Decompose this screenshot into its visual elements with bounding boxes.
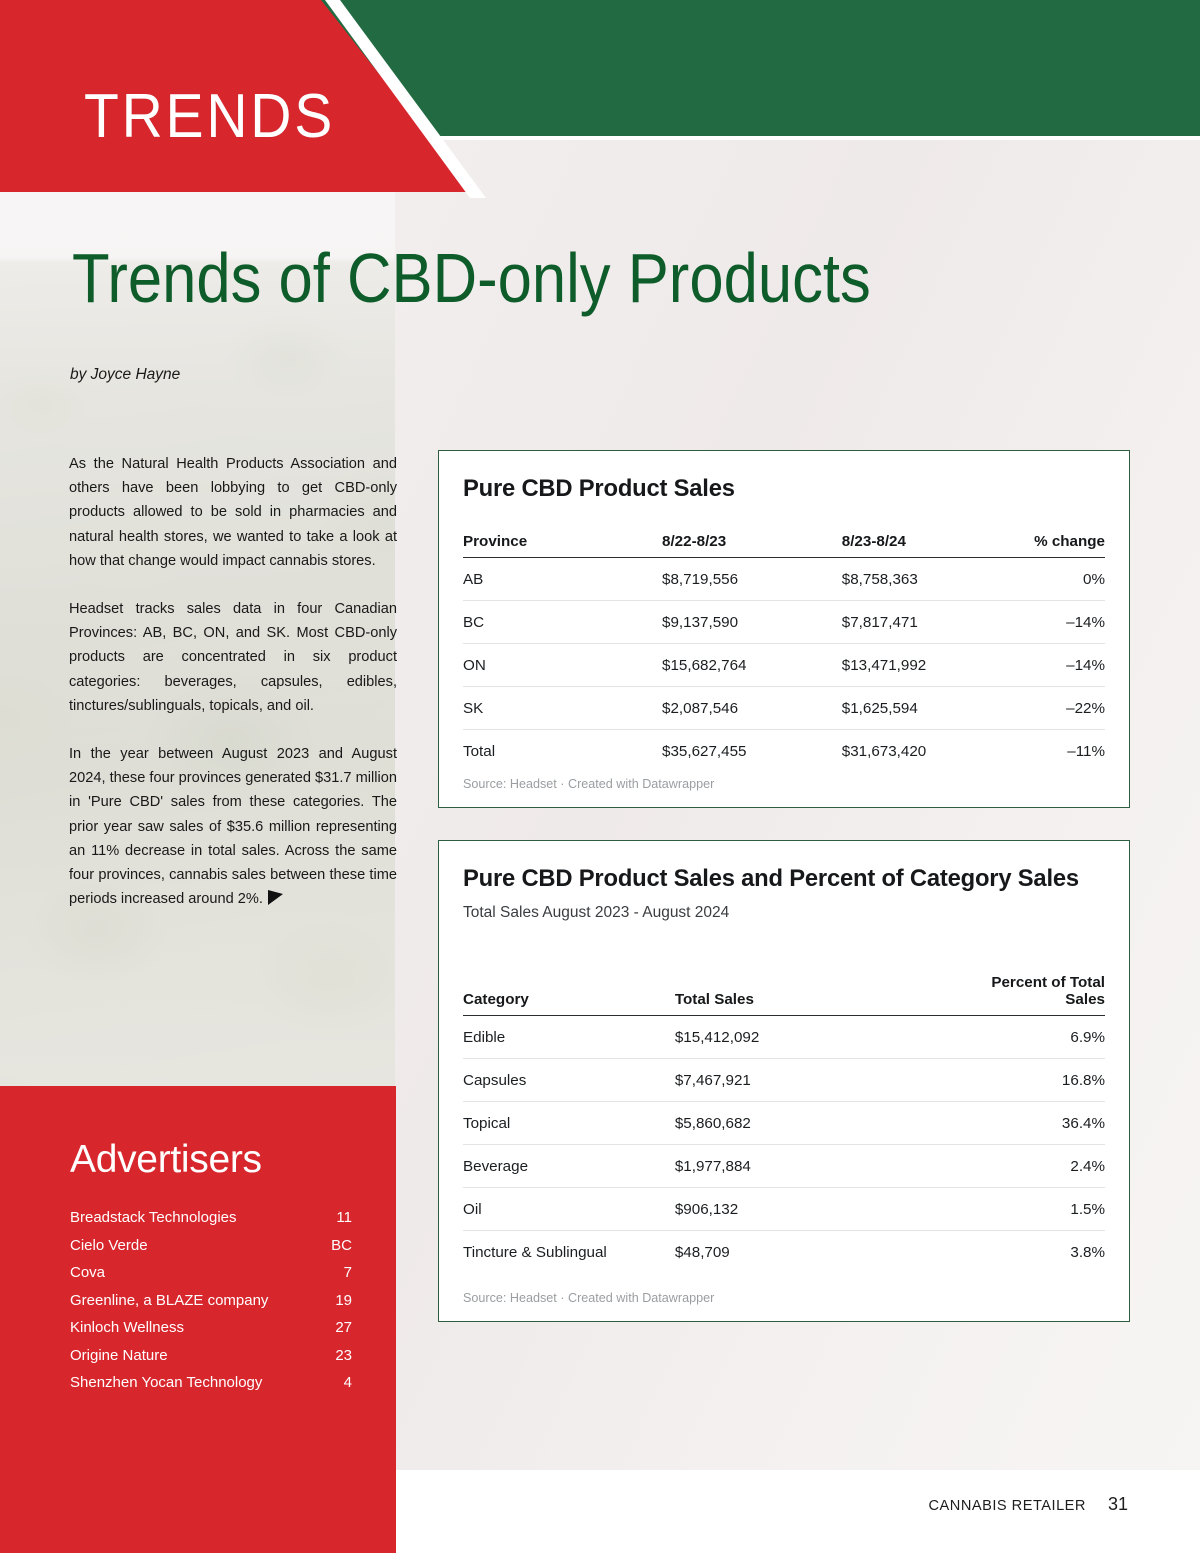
chart-source: Source: Headset · Created with Datawrapp… (463, 1291, 714, 1305)
paragraph: In the year between August 2023 and Augu… (69, 742, 397, 911)
chart-subtitle: Total Sales August 2023 - August 2024 (463, 904, 1105, 922)
list-item[interactable]: Cova 7 (70, 1259, 352, 1287)
spacer (463, 922, 1105, 974)
byline: by Joyce Hayne (70, 366, 180, 384)
cell-total-sales: $1,977,884 (675, 1145, 932, 1188)
list-item[interactable]: Greenline, a BLAZE company 19 (70, 1287, 352, 1315)
cell-total-sales: $48,709 (675, 1231, 932, 1274)
cell-period-1: $9,137,590 (662, 601, 842, 644)
advertiser-page: 27 (324, 1314, 352, 1342)
cell-province: Total (463, 730, 662, 773)
cell-percent: 3.8% (932, 1231, 1105, 1274)
table-header-row: Category Total Sales Percent of TotalSal… (463, 974, 1105, 1016)
column-header-province: Province (463, 533, 662, 558)
advertiser-name: Kinloch Wellness (70, 1314, 184, 1342)
cell-category: Beverage (463, 1145, 675, 1188)
advertiser-page: 23 (324, 1342, 352, 1370)
cell-pct-change: –11% (989, 730, 1105, 773)
table-row: AB $8,719,556 $8,758,363 0% (463, 558, 1105, 601)
section-label: TRENDS (84, 86, 335, 148)
advertiser-page: 19 (324, 1287, 352, 1315)
cell-percent: 16.8% (932, 1059, 1105, 1102)
footer-page-number: 31 (1108, 1494, 1128, 1515)
table-row-total: Total $35,627,455 $31,673,420 –11% (463, 730, 1105, 773)
list-item[interactable]: Breadstack Technologies 11 (70, 1204, 352, 1232)
paragraph-text: In the year between August 2023 and Augu… (69, 746, 397, 907)
advertisers-list: Breadstack Technologies 11 Cielo Verde B… (70, 1204, 352, 1397)
table-header: Province 8/22-8/23 8/23-8/24 % change (463, 533, 1105, 558)
cell-category: Capsules (463, 1059, 675, 1102)
advertiser-page: 11 (324, 1204, 352, 1232)
cell-total-sales: $5,860,682 (675, 1102, 932, 1145)
advertiser-name: Greenline, a BLAZE company (70, 1287, 268, 1315)
chart-source: Source: Headset · Created with Datawrapp… (463, 777, 714, 791)
table-body: AB $8,719,556 $8,758,363 0% BC $9,137,59… (463, 558, 1105, 773)
column-header-percent-of-total-sales: Percent of TotalSales (932, 974, 1105, 1016)
cell-pct-change: –14% (989, 644, 1105, 687)
column-header-total-sales: Total Sales (675, 974, 932, 1016)
advertisers-panel: Advertisers Breadstack Technologies 11 C… (0, 1086, 396, 1553)
cell-total-sales: $15,412,092 (675, 1016, 932, 1059)
end-of-article-marker-icon (268, 890, 283, 905)
table-row: BC $9,137,590 $7,817,471 –14% (463, 601, 1105, 644)
magazine-page: TRENDS Trends of CBD-only Products by Jo… (0, 0, 1200, 1553)
chart-card-pure-cbd-product-sales: Pure CBD Product Sales Province 8/22-8/2… (438, 450, 1130, 808)
cell-period-2: $8,758,363 (842, 558, 990, 601)
table-header-row: Province 8/22-8/23 8/23-8/24 % change (463, 533, 1105, 558)
advertiser-name: Origine Nature (70, 1342, 168, 1370)
header-line-2: Sales (1065, 991, 1105, 1008)
column-header-category: Category (463, 974, 675, 1016)
card-inner: Pure CBD Product Sales and Percent of Ca… (439, 841, 1129, 1321)
card-inner: Pure CBD Product Sales Province 8/22-8/2… (439, 451, 1129, 807)
column-header-period-2: 8/23-8/24 (842, 533, 990, 558)
advertisers-heading: Advertisers (70, 1138, 358, 1182)
cell-category: Tincture & Sublingual (463, 1231, 675, 1274)
cell-period-1: $15,682,764 (662, 644, 842, 687)
list-item[interactable]: Cielo Verde BC (70, 1232, 352, 1260)
table-body: Edible $15,412,092 6.9% Capsules $7,467,… (463, 1016, 1105, 1274)
chart-title: Pure CBD Product Sales and Percent of Ca… (463, 865, 1086, 893)
table-row: Beverage $1,977,884 2.4% (463, 1145, 1105, 1188)
table-header: Category Total Sales Percent of TotalSal… (463, 974, 1105, 1016)
paragraph: Headset tracks sales data in four Canadi… (69, 597, 397, 718)
page-footer: CANNABIS RETAILER 31 (929, 1494, 1128, 1515)
cell-percent: 2.4% (932, 1145, 1105, 1188)
advertiser-name: Cova (70, 1259, 105, 1287)
cell-period-2: $1,625,594 (842, 687, 990, 730)
advertiser-page: 7 (324, 1259, 352, 1287)
cell-pct-change: –22% (989, 687, 1105, 730)
chart-card-category-sales: Pure CBD Product Sales and Percent of Ca… (438, 840, 1130, 1322)
chart-title: Pure CBD Product Sales (463, 475, 1086, 503)
table-row: ON $15,682,764 $13,471,992 –14% (463, 644, 1105, 687)
table-row: Tincture & Sublingual $48,709 3.8% (463, 1231, 1105, 1274)
advertiser-name: Shenzhen Yocan Technology (70, 1369, 262, 1397)
cell-period-1: $8,719,556 (662, 558, 842, 601)
page-title: Trends of CBD-only Products (72, 243, 952, 313)
footer-brand: CANNABIS RETAILER (929, 1498, 1086, 1514)
cell-period-1: $2,087,546 (662, 687, 842, 730)
cell-percent: 1.5% (932, 1188, 1105, 1231)
table-row: Oil $906,132 1.5% (463, 1188, 1105, 1231)
spacer (463, 503, 1105, 533)
advertiser-name: Breadstack Technologies (70, 1204, 237, 1232)
table-row: Topical $5,860,682 36.4% (463, 1102, 1105, 1145)
cell-province: SK (463, 687, 662, 730)
advertiser-name: Cielo Verde (70, 1232, 148, 1260)
cell-category: Edible (463, 1016, 675, 1059)
cell-period-2: $31,673,420 (842, 730, 990, 773)
cell-percent: 6.9% (932, 1016, 1105, 1059)
list-item[interactable]: Shenzhen Yocan Technology 4 (70, 1369, 352, 1397)
cell-pct-change: 0% (989, 558, 1105, 601)
paragraph: As the Natural Health Products Associati… (69, 452, 397, 573)
cell-total-sales: $7,467,921 (675, 1059, 932, 1102)
cell-province: ON (463, 644, 662, 687)
column-header-period-1: 8/22-8/23 (662, 533, 842, 558)
data-table-category-sales: Category Total Sales Percent of TotalSal… (463, 974, 1105, 1273)
list-item[interactable]: Origine Nature 23 (70, 1342, 352, 1370)
data-table-province-sales: Province 8/22-8/23 8/23-8/24 % change AB… (463, 533, 1105, 772)
cell-total-sales: $906,132 (675, 1188, 932, 1231)
cell-period-1: $35,627,455 (662, 730, 842, 773)
cell-category: Oil (463, 1188, 675, 1231)
column-header-pct-change: % change (989, 533, 1105, 558)
table-row: SK $2,087,546 $1,625,594 –22% (463, 687, 1105, 730)
advertiser-page: BC (324, 1232, 352, 1260)
cell-percent: 36.4% (932, 1102, 1105, 1145)
cell-period-2: $7,817,471 (842, 601, 990, 644)
section-banner: TRENDS (0, 0, 1200, 200)
cell-period-2: $13,471,992 (842, 644, 990, 687)
table-row: Edible $15,412,092 6.9% (463, 1016, 1105, 1059)
article-body: As the Natural Health Products Associati… (69, 452, 397, 911)
cell-province: AB (463, 558, 662, 601)
cell-category: Topical (463, 1102, 675, 1145)
cell-pct-change: –14% (989, 601, 1105, 644)
advertiser-page: 4 (324, 1369, 352, 1397)
header-line-1: Percent of Total (991, 974, 1105, 991)
list-item[interactable]: Kinloch Wellness 27 (70, 1314, 352, 1342)
cell-province: BC (463, 601, 662, 644)
table-row: Capsules $7,467,921 16.8% (463, 1059, 1105, 1102)
